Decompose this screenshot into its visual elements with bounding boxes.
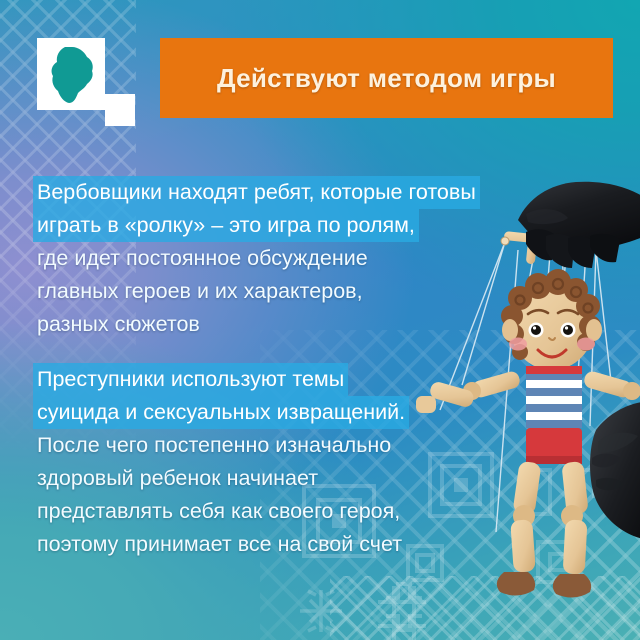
black-gloved-hand-top bbox=[518, 182, 640, 268]
copy-line: здоровый ребенок начинает bbox=[33, 462, 322, 495]
copy-line: Вербовщики находят ребят, которые готовы bbox=[33, 176, 480, 209]
header-title-bar: Действуют методом игры bbox=[160, 38, 613, 118]
black-gloved-hand-lower bbox=[590, 402, 640, 540]
gomel-oblast-map-icon bbox=[45, 44, 99, 106]
copy-line: представлять себя как своего героя, bbox=[33, 495, 404, 528]
copy-line: После чего постепенно изначально bbox=[33, 429, 395, 462]
copy-line: играть в «ролку» – это игра по ролям, bbox=[33, 209, 419, 242]
copy-line: Преступники используют темы bbox=[33, 363, 348, 396]
copy-line: поэтому принимает все на свой счет bbox=[33, 528, 406, 561]
region-map-logo bbox=[37, 38, 105, 110]
page-title: Действуют методом игры bbox=[217, 63, 556, 94]
logo-accent-square bbox=[105, 94, 135, 126]
puppet-shirt bbox=[526, 366, 582, 428]
copy-line: суицида и сексуальных извращений. bbox=[33, 396, 409, 429]
body-copy: Вербовщики находят ребят, которые готовы… bbox=[33, 176, 533, 583]
poster-canvas: Действуют методом игры bbox=[0, 0, 640, 640]
copy-line: где идет постоянное обсуждение bbox=[33, 242, 372, 275]
copy-line: главных героев и их характеров, bbox=[33, 275, 367, 308]
paragraph-2: Преступники используют темы суицида и се… bbox=[33, 363, 533, 561]
copy-line: разных сюжетов bbox=[33, 308, 204, 341]
paragraph-1: Вербовщики находят ребят, которые готовы… bbox=[33, 176, 533, 341]
